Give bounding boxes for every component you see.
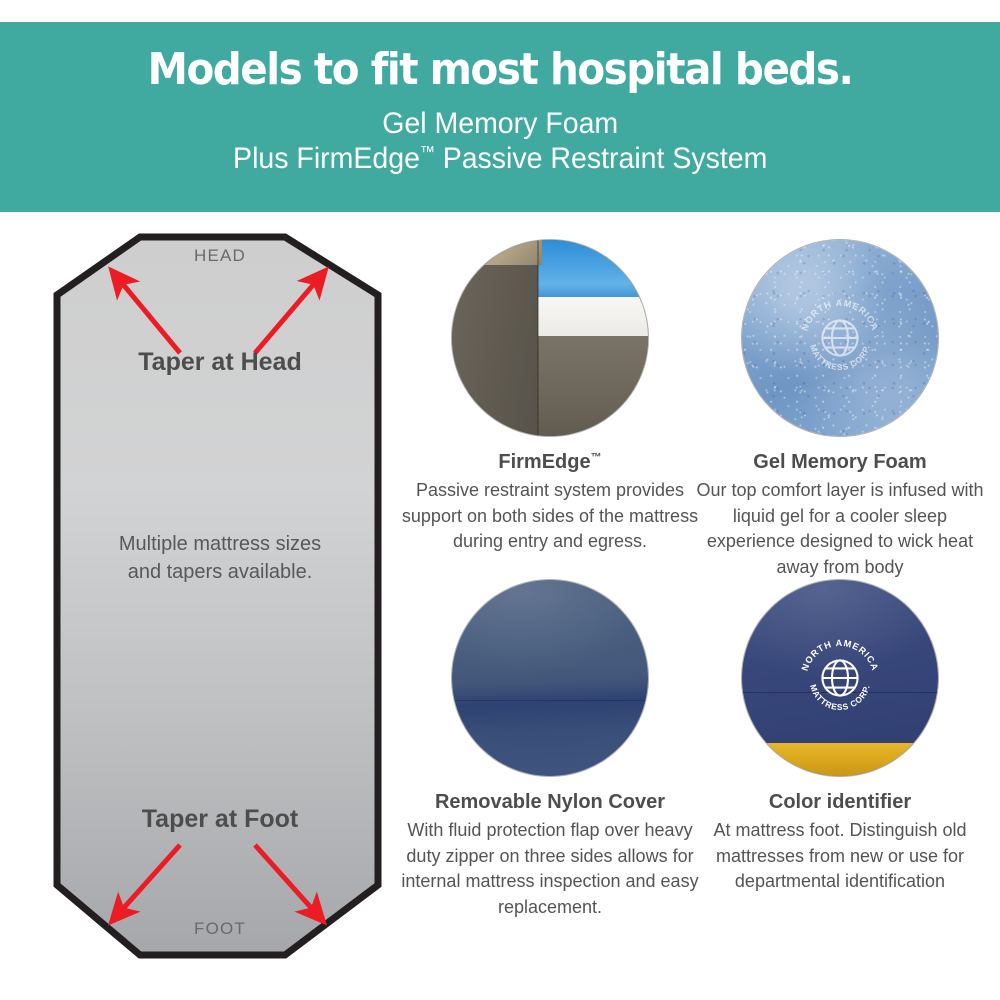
fabric-sheen [452,580,648,678]
yellow-color-band [742,743,938,776]
feature-grid: FirmEdge™ Passive restraint system provi… [400,240,1000,950]
header-subtitle-line-2-tail: Passive Restraint System [435,142,768,175]
feature-description-color-identifier: At mattress foot. Distinguish old mattre… [690,818,990,895]
foam-layer-base [538,336,648,436]
brand-logo-bottom-text: MATTRESS CORP. [808,683,872,712]
foam-edge-seam [537,240,539,436]
feature-description-removable-nylon-cover: With fluid protection flap over heavy du… [400,818,700,920]
fabric-seam [452,700,648,702]
foam-layer-white [538,297,648,338]
fabric-seam [742,692,938,694]
feature-title-removable-nylon-cover: Removable Nylon Cover [400,790,700,814]
color-identifier-photo: NORTH AMERICA MATTRESS CORP. [742,580,938,776]
fabric-sheen [742,580,938,678]
mattress-diagram: HEAD Taper at Head Multiple mattress siz… [40,225,400,970]
feature-title-firmedge: FirmEdge™ [400,450,700,474]
foam-texture [742,240,938,436]
header-banner: Models to fit most hospital beds. Gel Me… [0,22,1000,212]
foam-left-face [452,240,538,436]
header-subtitle-line-2: Plus FirmEdge™ Passive Restraint System [233,141,767,176]
feature-card-removable-nylon-cover: Removable Nylon Cover With fluid protect… [400,580,700,920]
feature-card-color-identifier: NORTH AMERICA MATTRESS CORP. Color ident… [690,580,990,895]
gel-layer-blue [538,240,648,299]
feature-description-gel-memory-foam: Our top comfort layer is infused with li… [690,478,990,580]
feature-title-text: FirmEdge [498,451,590,473]
trademark-symbol: ™ [420,144,435,161]
firmedge-foam-layers-photo [452,240,648,436]
mattress-shape [57,237,378,955]
foam-top-surface [452,240,542,265]
page-title: Models to fit most hospital beds. [148,48,853,92]
mattress-outline-svg [40,225,400,970]
feature-card-firmedge: FirmEdge™ Passive restraint system provi… [400,240,700,555]
feature-title-gel-memory-foam: Gel Memory Foam [690,450,990,474]
nylon-cover-photo [452,580,648,776]
infographic-page: Models to fit most hospital beds. Gel Me… [0,0,1000,1000]
feature-description-firmedge: Passive restraint system provides suppor… [400,478,700,555]
trademark-symbol: ™ [591,451,602,463]
feature-title-color-identifier: Color identifier [690,790,990,814]
header-subtitle-line-1: Gel Memory Foam [382,106,618,141]
header-subtitle-line-2-text: Plus FirmEdge [233,142,420,175]
feature-card-gel-memory-foam: NORTH AMERICA MATTRESS CORP. Gel Memory … [690,240,990,580]
gel-memory-foam-photo: NORTH AMERICA MATTRESS CORP. [742,240,938,436]
